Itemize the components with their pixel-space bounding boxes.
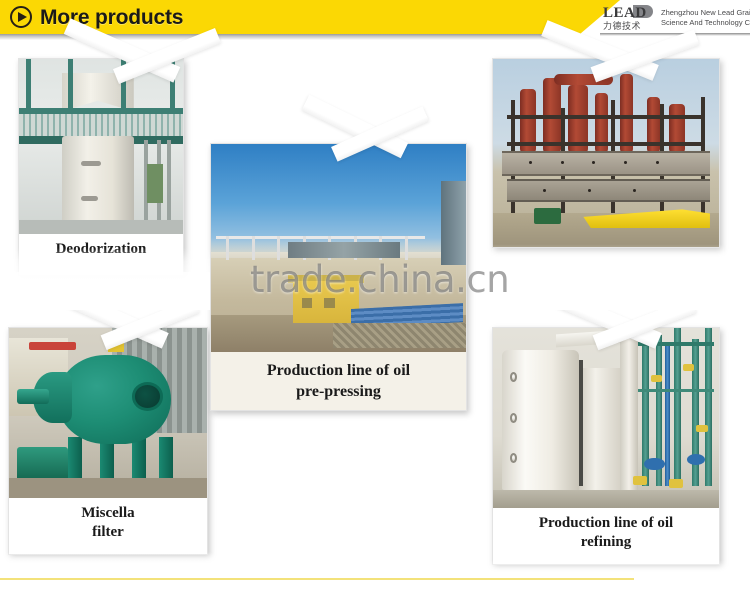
- header-divider-line: [600, 33, 750, 36]
- product-photo-oil-refining: [493, 328, 719, 508]
- caption-line-1: Miscella: [9, 504, 207, 523]
- caption-line-2: pre-pressing: [211, 381, 466, 402]
- product-caption-miscella-filter: Miscella filter: [9, 498, 207, 542]
- page-title: More products: [40, 3, 183, 32]
- page-header: More products LEAD 力德技术 Zhengzhou New Le…: [0, 0, 750, 40]
- product-photo-refinery: [493, 59, 719, 247]
- bottom-fade: [0, 560, 750, 578]
- product-photo-miscella-filter: [9, 328, 207, 498]
- product-card-miscella-filter[interactable]: Miscella filter: [8, 327, 208, 555]
- caption-line-2: filter: [9, 523, 207, 542]
- company-name-block: Zhengzhou New Lead Grain&oil Science And…: [661, 8, 750, 28]
- product-caption-deodorization: Deodorization: [19, 234, 183, 259]
- product-photo-pre-pressing: [211, 144, 466, 352]
- product-caption-pre-pressing: Production line of oil pre-pressing: [211, 352, 466, 402]
- caption-line-1: Production line of oil: [493, 514, 719, 533]
- fade-overlay-right: [492, 244, 724, 310]
- product-card-pre-pressing[interactable]: Production line of oil pre-pressing: [210, 143, 467, 411]
- circle-arrow-right-icon: [10, 6, 32, 28]
- logo-chinese-name: 力德技术: [603, 19, 641, 32]
- company-name-line2: Science And Technology Co.,Ltd: [661, 18, 750, 28]
- lead-logo-mark: LEAD 力德技术: [603, 5, 657, 31]
- more-products-banner: More products LEAD 力德技术 Zhengzhou New Le…: [0, 0, 750, 589]
- bottom-yellow-rule: [0, 578, 634, 580]
- product-card-refinery[interactable]: [492, 58, 720, 248]
- product-card-deodorization[interactable]: Deodorization: [18, 58, 184, 276]
- company-name-line1: Zhengzhou New Lead Grain&oil: [661, 8, 750, 18]
- header-band-shadow: [0, 34, 620, 40]
- fade-overlay-left-2: [0, 272, 210, 310]
- caption-line-2: refining: [493, 533, 719, 552]
- product-photo-deodorization: [19, 59, 183, 234]
- company-logo[interactable]: LEAD 力德技术 Zhengzhou New Lead Grain&oil S…: [603, 4, 750, 32]
- product-caption-oil-refining: Production line of oil refining: [493, 508, 719, 552]
- caption-line-1: Production line of oil: [211, 360, 466, 381]
- product-card-oil-refining[interactable]: Production line of oil refining: [492, 327, 720, 565]
